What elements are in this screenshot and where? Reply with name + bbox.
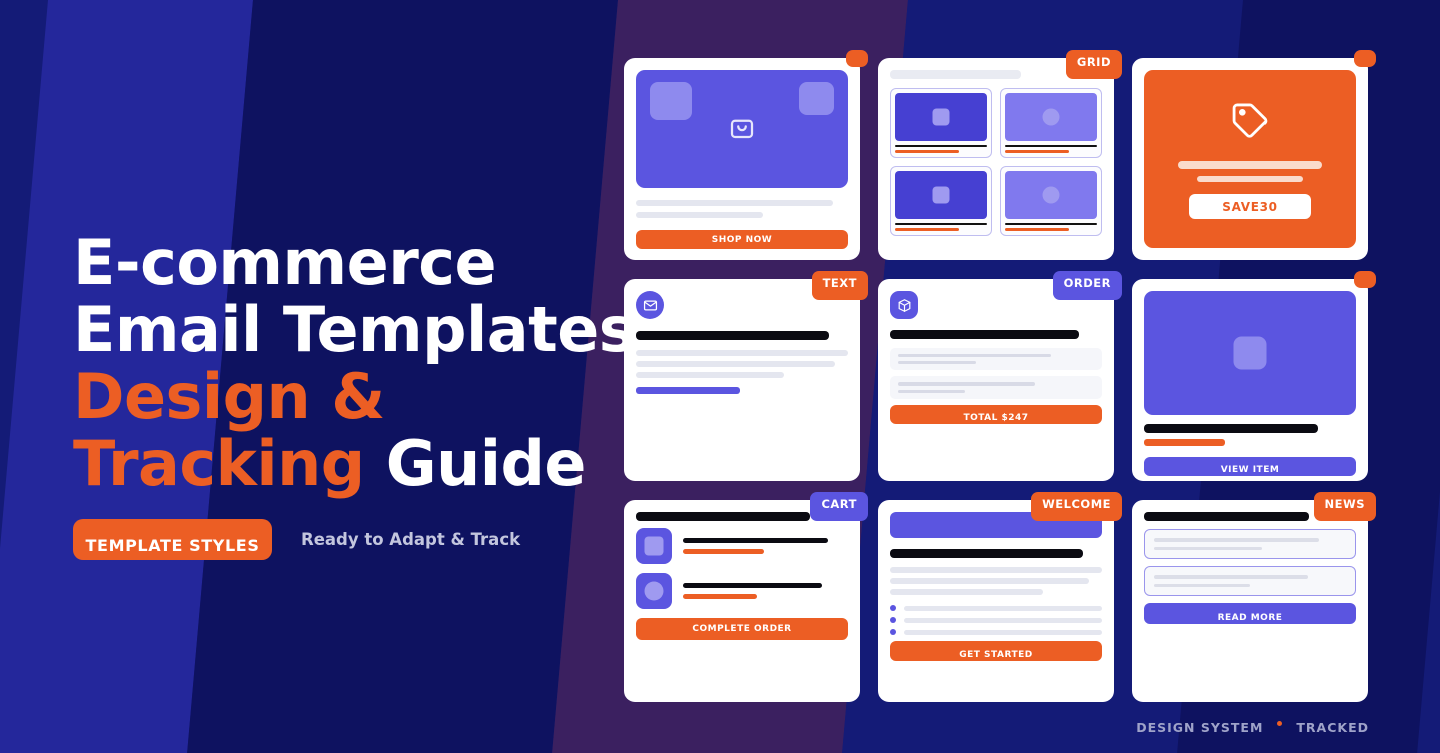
cart-item-thumbnail xyxy=(636,573,672,609)
hero-image-placeholder xyxy=(636,70,848,188)
template-card-welcome[interactable]: WELCOME GET STARTED xyxy=(878,500,1114,702)
card-badge-text: TEXT xyxy=(812,271,868,300)
square-icon xyxy=(645,537,664,556)
text-placeholder-line xyxy=(636,372,784,378)
product-tile[interactable] xyxy=(1000,166,1102,236)
tile-title-line xyxy=(895,145,987,148)
cart-item-name xyxy=(683,583,822,588)
cart-item-row xyxy=(636,528,848,564)
product-tile[interactable] xyxy=(1000,88,1102,158)
template-card-abandoned-cart[interactable]: CART COMPLETE ORDER xyxy=(624,500,860,702)
card-badge-welcome: WELCOME xyxy=(1031,492,1122,521)
news-article-block[interactable] xyxy=(1144,529,1356,559)
product-image-placeholder xyxy=(1144,291,1356,415)
hero-footer-row: TEMPLATE STYLES Ready to Adapt & Track xyxy=(73,519,693,560)
bullet-item xyxy=(890,605,1102,611)
title-accent-word: Tracking xyxy=(73,427,365,500)
square-icon xyxy=(933,186,950,203)
cart-item-row xyxy=(636,573,848,609)
footer-right-label: TRACKED xyxy=(1296,720,1369,735)
envelope-icon xyxy=(636,291,664,319)
hero-section: E-commerce Email Templates Design & Trac… xyxy=(73,232,693,560)
headline-placeholder xyxy=(636,331,829,340)
cart-item-thumbnail xyxy=(636,528,672,564)
title-line-2: Email Templates xyxy=(73,299,693,361)
template-card-hero-product[interactable]: SHOP NOW xyxy=(624,58,860,260)
product-tile[interactable] xyxy=(890,88,992,158)
read-more-button[interactable]: READ MORE xyxy=(1144,603,1356,624)
complete-order-button[interactable]: COMPLETE ORDER xyxy=(636,618,848,640)
template-styles-pill[interactable]: TEMPLATE STYLES xyxy=(73,519,272,560)
template-card-newsletter[interactable]: NEWS READ MORE xyxy=(1132,500,1368,702)
card-badge-promo xyxy=(1354,50,1376,67)
tile-price-line xyxy=(1005,150,1069,153)
footer-left-label: DESIGN SYSTEM xyxy=(1136,720,1263,735)
decor-square-center xyxy=(1234,337,1267,370)
title-line-1: E-commerce xyxy=(73,232,693,294)
card-badge-product-detail xyxy=(1354,271,1376,288)
promo-panel: SAVE30 xyxy=(1144,70,1356,248)
template-card-plain-text[interactable]: TEXT xyxy=(624,279,860,481)
title-line-3: Design & xyxy=(73,366,693,428)
bullet-dot-icon xyxy=(890,617,896,623)
text-placeholder-line xyxy=(636,350,848,356)
promo-subline-placeholder xyxy=(1197,176,1303,182)
circle-icon xyxy=(645,582,664,601)
package-box-icon xyxy=(890,291,918,319)
cart-item-price xyxy=(683,594,757,599)
order-headline-placeholder xyxy=(890,330,1079,339)
product-tiles xyxy=(890,88,1102,236)
shop-now-button[interactable]: SHOP NOW xyxy=(636,230,848,249)
dot-separator-icon xyxy=(1277,721,1282,726)
text-placeholder-line xyxy=(890,578,1089,584)
card-badge-grid: GRID xyxy=(1066,50,1122,79)
template-card-product-grid[interactable]: GRID xyxy=(878,58,1114,260)
order-line-item xyxy=(890,376,1102,398)
template-card-promo-coupon[interactable]: SAVE30 xyxy=(1132,58,1368,260)
card-badge-hero-product xyxy=(846,50,868,67)
decor-square-right xyxy=(799,82,834,115)
text-placeholder-line xyxy=(636,212,763,218)
poster-canvas: E-commerce Email Templates Design & Trac… xyxy=(0,0,1440,753)
shopping-bag-icon xyxy=(727,112,757,146)
circle-icon xyxy=(1043,108,1060,125)
cart-item-name xyxy=(683,538,828,543)
product-tile[interactable] xyxy=(890,166,992,236)
tile-title-line xyxy=(1005,145,1097,148)
tile-title-line xyxy=(1005,223,1097,226)
product-name-placeholder xyxy=(1144,424,1318,433)
newsletter-headline-placeholder xyxy=(1144,512,1309,521)
view-item-button[interactable]: VIEW ITEM xyxy=(1144,457,1356,476)
title-tail-word: Guide xyxy=(365,427,586,500)
text-placeholder-line xyxy=(636,200,833,206)
card-badge-news: NEWS xyxy=(1314,492,1376,521)
welcome-headline-placeholder xyxy=(890,549,1083,558)
tile-price-line xyxy=(1005,228,1069,231)
title-line-4: Tracking Guide xyxy=(73,433,693,495)
inline-link-placeholder[interactable] xyxy=(636,387,740,394)
text-placeholder-line xyxy=(890,567,1102,573)
footer: DESIGN SYSTEM TRACKED xyxy=(1136,720,1369,735)
tile-price-line xyxy=(895,228,959,231)
bullet-item xyxy=(890,629,1102,635)
bullet-dot-icon xyxy=(890,629,896,635)
text-placeholder-line xyxy=(636,361,835,367)
template-card-grid: SHOP NOW GRID xyxy=(624,58,1368,702)
header-placeholder-bar xyxy=(890,70,1021,79)
template-styles-label: TEMPLATE STYLES xyxy=(86,536,260,555)
order-line-item xyxy=(890,348,1102,370)
cart-headline-placeholder xyxy=(636,512,810,521)
bullet-item xyxy=(890,617,1102,623)
bullet-dot-icon xyxy=(890,605,896,611)
template-card-product-detail[interactable]: VIEW ITEM xyxy=(1132,279,1368,481)
promo-headline-placeholder xyxy=(1178,161,1322,169)
coupon-code-button[interactable]: SAVE30 xyxy=(1189,194,1312,219)
page-title: E-commerce Email Templates Design & Trac… xyxy=(73,232,693,495)
price-tag-icon xyxy=(1229,99,1271,145)
product-price-placeholder xyxy=(1144,439,1225,446)
text-placeholder-line xyxy=(890,589,1043,595)
hero-subtitle: Ready to Adapt & Track xyxy=(301,530,520,549)
decor-square-left xyxy=(650,82,692,120)
cart-item-price xyxy=(683,549,764,554)
news-article-block[interactable] xyxy=(1144,566,1356,596)
square-icon xyxy=(933,108,950,125)
get-started-button[interactable]: GET STARTED xyxy=(890,641,1102,661)
template-card-order-confirmation[interactable]: ORDER TOTAL $247 xyxy=(878,279,1114,481)
tile-price-line xyxy=(895,150,959,153)
order-total-button[interactable]: TOTAL $247 xyxy=(890,405,1102,424)
tile-title-line xyxy=(895,223,987,226)
circle-icon xyxy=(1043,186,1060,203)
